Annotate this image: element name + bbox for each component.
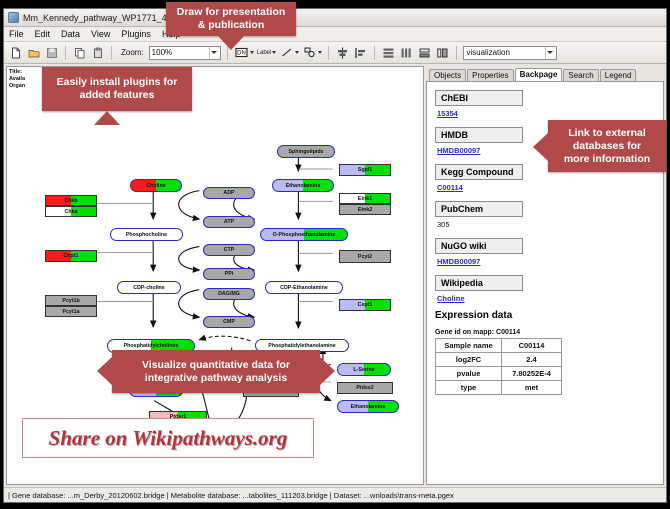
gene-node-chpt1[interactable]: Chpt1 xyxy=(45,250,97,262)
node-label: Phosphatidylethanolamine xyxy=(268,343,335,349)
open-folder-icon[interactable] xyxy=(26,45,41,60)
callout-visualize: Visualize quantitative data for integrat… xyxy=(112,350,320,393)
node-label: Sphingolipids xyxy=(288,149,323,155)
node-label: CDP-choline xyxy=(133,285,165,291)
app-icon xyxy=(8,12,19,23)
database-value: 305 xyxy=(437,220,655,229)
database-name: ChEBI xyxy=(435,90,523,106)
database-section-wikipedia: WikipediaCholine xyxy=(435,273,655,303)
gene-node-ptdss2[interactable]: Ptdss2 xyxy=(337,382,393,394)
metabolite-node-o-phosphoethanolamine[interactable]: O-Phosphoethanolamine xyxy=(260,228,348,241)
node-label: L-Serine xyxy=(353,367,374,373)
node-label: Pcyt1b xyxy=(62,298,79,304)
line-chevron-down-icon[interactable] xyxy=(295,51,299,54)
callout-draw: Draw for presentation & publication xyxy=(166,2,296,36)
expression-table: Sample nameC00114log2FC2.4pvalue7.80252E… xyxy=(435,338,562,395)
toolbar: Zoom: 100% DN Label xyxy=(4,42,666,64)
callout-visualize-arrow-right-icon xyxy=(320,357,335,385)
node-label: Phosphocholine xyxy=(126,232,167,238)
node-label: Ethanolamine xyxy=(351,404,386,410)
metabolite-node-l-serine-right[interactable]: L-Serine xyxy=(337,363,391,376)
share-banner-text: Share on Wikipathways.org xyxy=(49,426,288,451)
expression-key: pvalue xyxy=(436,367,502,381)
gene-node-pcyt1a[interactable]: Pcyt1a xyxy=(45,306,97,317)
gene-id-on-mapp: Gene id on mapp: C00114 xyxy=(435,329,655,336)
metabolite-node-sphingolipids[interactable]: Sphingolipids xyxy=(277,145,335,158)
metabolite-node-dag-mg[interactable]: DAG/MG xyxy=(203,288,255,300)
menu-item-edit[interactable]: Edit xyxy=(34,29,52,39)
metabolite-node-cmp[interactable]: CMP xyxy=(203,316,255,328)
gene-node-cept1[interactable]: Cept1 xyxy=(339,299,391,311)
shape-icon[interactable] xyxy=(302,45,317,60)
database-section-chebi: ChEBI15354 xyxy=(435,88,655,118)
metabolite-node-ctp[interactable]: CTP xyxy=(203,244,255,256)
distribute-horizontal-icon[interactable] xyxy=(399,45,414,60)
tab-objects[interactable]: Objects xyxy=(429,69,466,81)
tab-label: Legend xyxy=(605,71,632,80)
node-label: CTP xyxy=(224,247,235,253)
database-link[interactable]: Choline xyxy=(437,294,655,303)
tab-properties[interactable]: Properties xyxy=(467,69,513,81)
metabolite-node-phosphocholine[interactable]: Phosphocholine xyxy=(110,228,183,241)
stack-icon[interactable] xyxy=(417,45,432,60)
database-section-pubchem: PubChem305 xyxy=(435,199,655,229)
gene-node-pcyt2[interactable]: Pcyt2 xyxy=(339,250,391,263)
node-label: Ethanolamine xyxy=(286,183,321,189)
node-label: Sgpl1 xyxy=(358,167,372,173)
align-center-icon[interactable] xyxy=(335,45,350,60)
callout-visualize-arrow-left-icon xyxy=(97,357,112,385)
share-banner: Share on Wikipathways.org xyxy=(22,418,314,458)
node-label: Pcyt1a xyxy=(62,309,79,315)
menu-item-plugins[interactable]: Plugins xyxy=(120,29,152,39)
node-label: ADP xyxy=(223,190,234,196)
database-link[interactable]: HMDB00097 xyxy=(437,257,655,266)
label-tool-label: Label xyxy=(257,50,272,56)
distribute-vertical-icon[interactable] xyxy=(381,45,396,60)
zoom-combo[interactable]: 100% xyxy=(149,46,221,60)
visualization-value: visualization xyxy=(466,48,545,57)
tab-label: Properties xyxy=(472,71,508,80)
tab-label: Objects xyxy=(434,71,461,80)
menu-item-data[interactable]: Data xyxy=(60,29,81,39)
expression-value: 7.80252E-4 xyxy=(502,367,562,381)
node-label: Ptdss2 xyxy=(356,385,373,391)
tab-label: Backpage xyxy=(520,70,558,79)
copy-icon[interactable] xyxy=(72,45,87,60)
database-name: HMDB xyxy=(435,127,523,143)
node-label: CMP xyxy=(223,319,235,325)
node-label: CDP-Ethanolamine xyxy=(280,285,328,291)
expression-key: log2FC xyxy=(436,353,502,367)
tab-search[interactable]: Search xyxy=(563,69,598,81)
datanode-chevron-down-icon[interactable] xyxy=(250,51,254,54)
node-label: O-Phosphoethanolamine xyxy=(273,232,336,238)
toolbar-separator-4 xyxy=(328,46,329,60)
menu-bar: File Edit Data View Plugins Help xyxy=(4,27,666,42)
toolbar-separator-6 xyxy=(456,46,457,60)
tab-backpage[interactable]: Backpage xyxy=(515,68,563,81)
gene-node-etnk1[interactable]: Etnk1 xyxy=(339,193,391,204)
gene-node-chkb[interactable]: Chkb xyxy=(45,195,97,206)
new-file-icon[interactable] xyxy=(8,45,23,60)
menu-item-file[interactable]: File xyxy=(8,29,25,39)
shape-tool[interactable] xyxy=(302,45,322,60)
status-bar: | Gene database: ...m_Derby_20120602.bri… xyxy=(4,487,666,502)
node-label: Chka xyxy=(65,209,78,215)
callout-plugins-arrow-icon xyxy=(94,111,120,125)
node-label: Chkb xyxy=(64,198,77,204)
callout-draw-arrow-down-icon xyxy=(218,36,244,50)
shape-chevron-down-icon[interactable] xyxy=(318,51,322,54)
node-label: Chpt1 xyxy=(63,253,78,259)
metabolite-node-cdp-ethanolamine[interactable]: CDP-Ethanolamine xyxy=(265,281,343,294)
database-link[interactable]: C00114 xyxy=(437,183,655,192)
table-row: log2FC2.4 xyxy=(436,353,562,367)
gene-node-etnk2[interactable]: Etnk2 xyxy=(339,204,391,215)
status-text: | Gene database: ...m_Derby_20120602.bri… xyxy=(8,491,454,500)
node-label: DAG/MG xyxy=(218,291,240,297)
table-row: Sample nameC00114 xyxy=(436,339,562,353)
metabolite-node-ethanolamine-bottom[interactable]: Ethanolamine xyxy=(337,400,399,413)
toolbar-separator-1 xyxy=(65,46,66,60)
side-panel-tabs: ObjectsPropertiesBackpageSearchLegend xyxy=(426,66,664,81)
callout-link-arrow-left-icon xyxy=(533,133,548,161)
zoom-value: 100% xyxy=(152,48,209,57)
database-name: NuGO wiki xyxy=(435,238,523,254)
visualization-combo[interactable]: visualization xyxy=(463,46,557,60)
database-name: Kegg Compound xyxy=(435,164,523,180)
zoom-combo-chevron-down-icon[interactable] xyxy=(209,47,218,59)
node-label: Etnk2 xyxy=(358,207,372,213)
table-row: pvalue7.80252E-4 xyxy=(436,367,562,381)
label-chevron-down-icon[interactable] xyxy=(272,51,276,54)
paste-icon[interactable] xyxy=(90,45,105,60)
node-label: Etnk1 xyxy=(358,196,372,202)
align-left-icon[interactable] xyxy=(353,45,368,60)
toolbar-separator-2 xyxy=(111,46,112,60)
save-icon[interactable] xyxy=(44,45,59,60)
node-label: Pcyt2 xyxy=(358,254,372,260)
database-section-nugo-wiki: NuGO wikiHMDB00097 xyxy=(435,236,655,266)
expression-value: C00114 xyxy=(502,339,562,353)
metabolite-node-cdp-choline[interactable]: CDP-choline xyxy=(117,281,181,294)
database-name: PubChem xyxy=(435,201,523,217)
database-link[interactable]: 15354 xyxy=(437,109,655,118)
metabolite-node-choline-top[interactable]: Choline xyxy=(130,179,182,192)
metabolite-node-ethanolamine[interactable]: Ethanolamine xyxy=(272,179,334,192)
database-name: Wikipedia xyxy=(435,275,523,291)
node-label: Choline xyxy=(146,183,165,189)
expression-key: type xyxy=(436,381,502,395)
visualization-chevron-down-icon[interactable] xyxy=(545,47,554,59)
table-row: typemet xyxy=(436,381,562,395)
node-label: ATP xyxy=(224,219,234,225)
expression-key: Sample name xyxy=(436,339,502,353)
expression-value: met xyxy=(502,381,562,395)
node-label: PPi xyxy=(225,271,234,277)
expression-data-title: Expression data xyxy=(435,310,655,321)
metabolite-node-adp[interactable]: ADP xyxy=(203,187,255,199)
svg-text:DN: DN xyxy=(237,51,246,57)
toolbar-separator-5 xyxy=(374,46,375,60)
gene-node-chka[interactable]: Chka xyxy=(45,206,97,217)
title-bar: Mm_Kennedy_pathway_WP1771_45176.gpml xyxy=(4,9,666,27)
tab-legend[interactable]: Legend xyxy=(600,69,637,81)
node-label: Cept1 xyxy=(358,302,373,308)
callout-plugins: Easily install plugins for added feature… xyxy=(42,67,192,111)
metabolite-node-ppi[interactable]: PPi xyxy=(203,268,255,280)
label-tool[interactable]: Label xyxy=(257,50,277,56)
gene-node-pcyt1b[interactable]: Pcyt1b xyxy=(45,295,97,306)
zoom-label: Zoom: xyxy=(121,48,144,57)
tab-label: Search xyxy=(568,71,593,80)
expression-value: 2.4 xyxy=(502,353,562,367)
line-tool[interactable] xyxy=(279,45,299,60)
callout-link: Link to external databases for more info… xyxy=(548,120,666,172)
menu-item-view[interactable]: View xyxy=(90,29,111,39)
line-icon[interactable] xyxy=(279,45,294,60)
group-icon[interactable] xyxy=(435,45,450,60)
gene-node-sgpl1[interactable]: Sgpl1 xyxy=(339,164,391,176)
metabolite-node-atp[interactable]: ATP xyxy=(203,216,255,228)
node-label: Phosphatidylcholines xyxy=(124,343,179,349)
